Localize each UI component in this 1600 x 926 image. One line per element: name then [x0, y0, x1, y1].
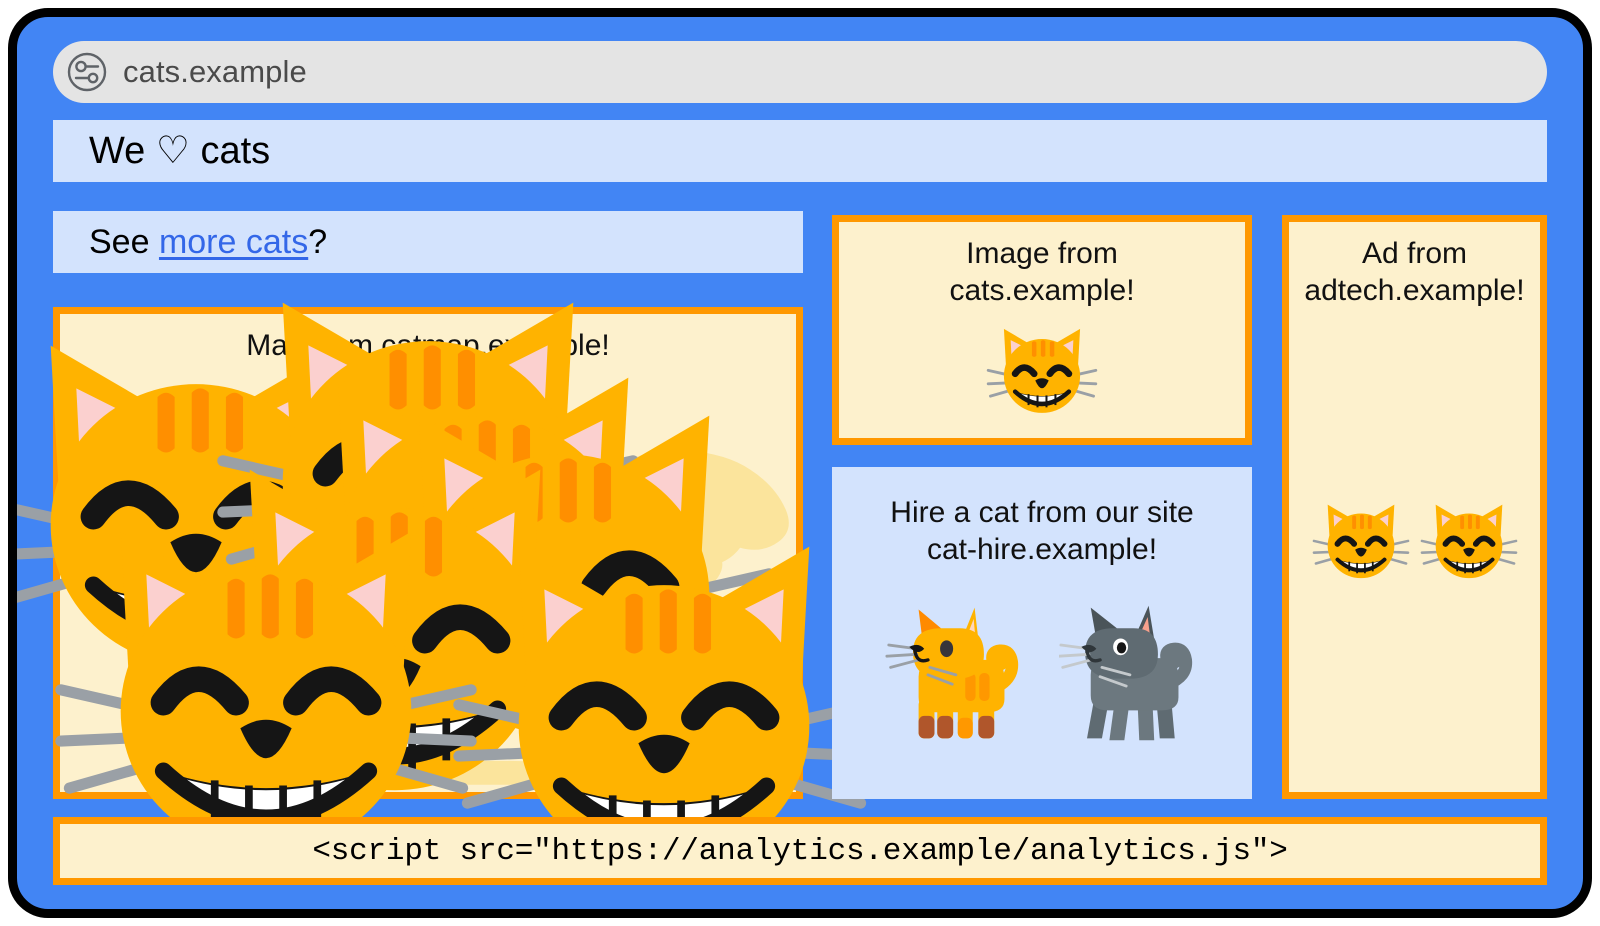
- hire-panel-title: Hire a cat from our site cat-hire.exampl…: [890, 495, 1193, 568]
- hire-panel: Hire a cat from our site cat-hire.exampl…: [832, 467, 1252, 799]
- world-map[interactable]: [60, 365, 796, 792]
- browser-window: cats.example We ♡ cats See more cats? Ma…: [8, 8, 1592, 918]
- grinning-cat-face-icon: [986, 311, 1098, 423]
- orange-cat-icon: [885, 598, 1025, 748]
- image-panel-title: Image from cats.example!: [949, 236, 1134, 309]
- map-panel: Map from catmap.example!: [53, 307, 803, 799]
- image-panel: Image from cats.example!: [832, 215, 1252, 445]
- ad-panel: Ad from adtech.example!: [1282, 215, 1547, 799]
- url-text[interactable]: cats.example: [123, 54, 307, 90]
- hero-banner: We ♡ cats: [53, 120, 1547, 182]
- grinning-cat-face-icon: [1312, 489, 1410, 587]
- ad-panel-title: Ad from adtech.example!: [1304, 236, 1524, 309]
- tune-settings-icon[interactable]: [65, 50, 109, 94]
- hire-panel-cats: [885, 598, 1199, 748]
- script-tag-text: <script src="https://analytics.example/a…: [312, 834, 1287, 869]
- hero-heading: We ♡ cats: [89, 120, 270, 182]
- gray-cat-icon: [1059, 598, 1199, 748]
- grinning-cat-face-icon: [1420, 489, 1518, 587]
- url-bar[interactable]: cats.example: [53, 41, 1547, 103]
- script-panel: <script src="https://analytics.example/a…: [53, 817, 1547, 885]
- ad-panel-cats[interactable]: [1312, 489, 1518, 587]
